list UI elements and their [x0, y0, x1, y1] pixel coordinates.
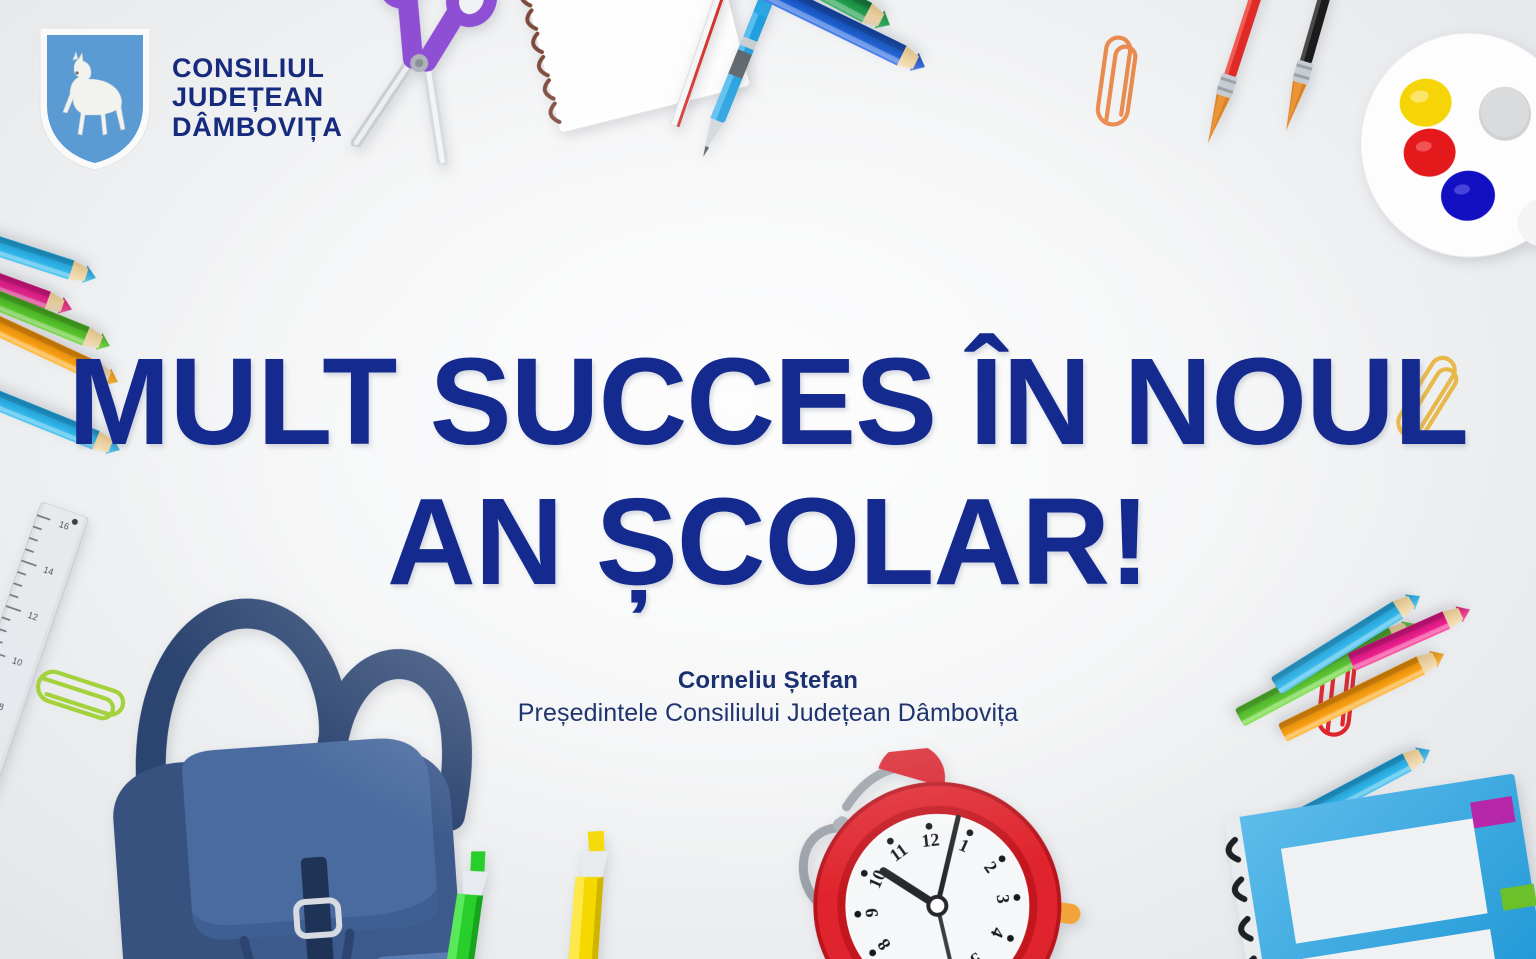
- notebook-blue-icon: [1199, 766, 1536, 959]
- logo-text: CONSILIUL JUDEȚEAN DÂMBOVIȚA: [172, 54, 343, 141]
- logo-line-3: DÂMBOVIȚA: [172, 113, 343, 142]
- headline-line-1: MULT SUCCES ÎN NOUL: [0, 334, 1536, 472]
- scissors-purple-icon: [340, 0, 516, 172]
- paint-palette-icon: [1342, 15, 1536, 292]
- paperclip-orange-icon: [1091, 28, 1147, 133]
- signature-block: Corneliu Ștefan Președintele Consiliului…: [0, 667, 1536, 728]
- svg-text:12: 12: [920, 829, 940, 851]
- signature-name: Corneliu Ștefan: [0, 667, 1536, 695]
- red-alarm-clock: 121234567891011: [776, 734, 1095, 959]
- coat-of-arms-dambovita-deer-shield: [36, 24, 154, 172]
- page-title: MULT SUCCES ÎN NOUL AN ȘCOLAR!: [0, 334, 1536, 612]
- logo-line-1: CONSILIUL: [172, 54, 343, 83]
- colored-pencils-left-icon: [0, 204, 99, 288]
- paintbrush-black-icon: [1264, 0, 1352, 146]
- headline-line-2: AN ȘCOLAR!: [0, 474, 1536, 612]
- logo-line-2: JUDEȚEAN: [172, 83, 343, 112]
- highlighter-yellow-icon: [553, 826, 618, 959]
- poster-canvas: 161412 1086: [0, 0, 1536, 959]
- logo: CONSILIUL JUDEȚEAN DÂMBOVIȚA: [36, 24, 343, 172]
- signature-role: Președintele Consiliului Județean Dâmbov…: [0, 699, 1536, 728]
